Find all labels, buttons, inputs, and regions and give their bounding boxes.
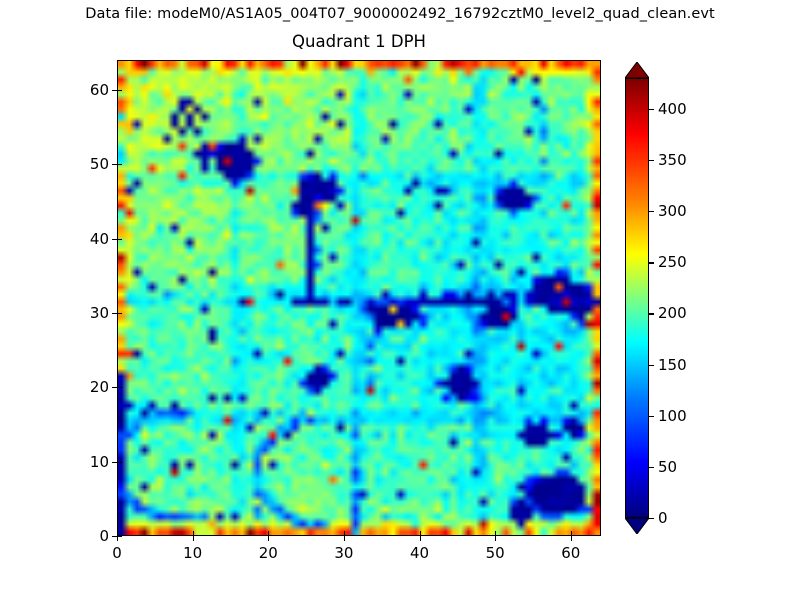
x-tick-label: 60 (561, 544, 580, 562)
colorbar-tick-mark (648, 518, 654, 519)
colorbar-tick-mark (648, 160, 654, 161)
figure-canvas: Data file: modeM0/AS1A05_004T07_90000024… (0, 0, 800, 600)
x-tick-label: 10 (183, 544, 202, 562)
colorbar-tick-label: 100 (658, 407, 687, 425)
x-tick-mark (495, 536, 496, 541)
y-tick-label: 10 (77, 453, 109, 471)
y-tick-mark-inner (117, 387, 122, 388)
colorbar-tick-mark (648, 313, 654, 314)
colorbar-tick-mark (648, 211, 654, 212)
colorbar-tick-mark (648, 467, 654, 468)
heatmap-plot-area[interactable] (117, 60, 601, 536)
x-tick-label: 0 (112, 544, 122, 562)
x-tick-label: 30 (334, 544, 353, 562)
colorbar-tick-label: 250 (658, 253, 687, 271)
x-tick-label: 20 (259, 544, 278, 562)
heatmap-image (118, 61, 600, 535)
y-tick-label: 0 (77, 527, 109, 545)
y-tick-label: 40 (77, 230, 109, 248)
colorbar-tick-mark (648, 109, 654, 110)
colorbar[interactable] (625, 78, 649, 518)
x-tick-mark (193, 536, 194, 541)
x-tick-mark-inner (420, 531, 421, 536)
axes-title: Quadrant 1 DPH (117, 32, 601, 51)
colorbar-tick-mark (648, 416, 654, 417)
colorbar-tick-label: 400 (658, 100, 687, 118)
colorbar-tick-label: 350 (658, 151, 687, 169)
colorbar-tick-label: 50 (658, 458, 677, 476)
colorbar-tick-mark (648, 365, 654, 366)
x-tick-mark (268, 536, 269, 541)
colorbar-tick-label: 150 (658, 356, 687, 374)
colorbar-tick-label: 0 (658, 509, 668, 527)
colorbar-tick-label: 300 (658, 202, 687, 220)
y-tick-mark-inner (117, 164, 122, 165)
x-tick-mark (344, 536, 345, 541)
data-file-suptitle: Data file: modeM0/AS1A05_004T07_90000024… (0, 6, 800, 22)
colorbar-extend-high (625, 62, 649, 78)
x-tick-mark-inner (268, 531, 269, 536)
y-tick-mark-inner (117, 90, 122, 91)
colorbar-extend-low (625, 518, 649, 534)
colorbar-tick-mark (648, 262, 654, 263)
y-tick-mark-inner (117, 536, 122, 537)
x-tick-label: 50 (486, 544, 505, 562)
x-tick-mark-inner (495, 531, 496, 536)
y-tick-mark-inner (117, 462, 122, 463)
x-tick-mark (571, 536, 572, 541)
y-tick-label: 20 (77, 378, 109, 396)
colorbar-tick-label: 200 (658, 304, 687, 322)
y-tick-mark-inner (117, 239, 122, 240)
x-tick-mark-inner (344, 531, 345, 536)
x-tick-mark (420, 536, 421, 541)
x-tick-mark-inner (571, 531, 572, 536)
y-tick-label: 60 (77, 81, 109, 99)
y-tick-label: 30 (77, 304, 109, 322)
x-tick-mark-inner (193, 531, 194, 536)
x-tick-label: 40 (410, 544, 429, 562)
y-tick-mark-inner (117, 313, 122, 314)
y-tick-label: 50 (77, 155, 109, 173)
colorbar-gradient (625, 78, 649, 518)
